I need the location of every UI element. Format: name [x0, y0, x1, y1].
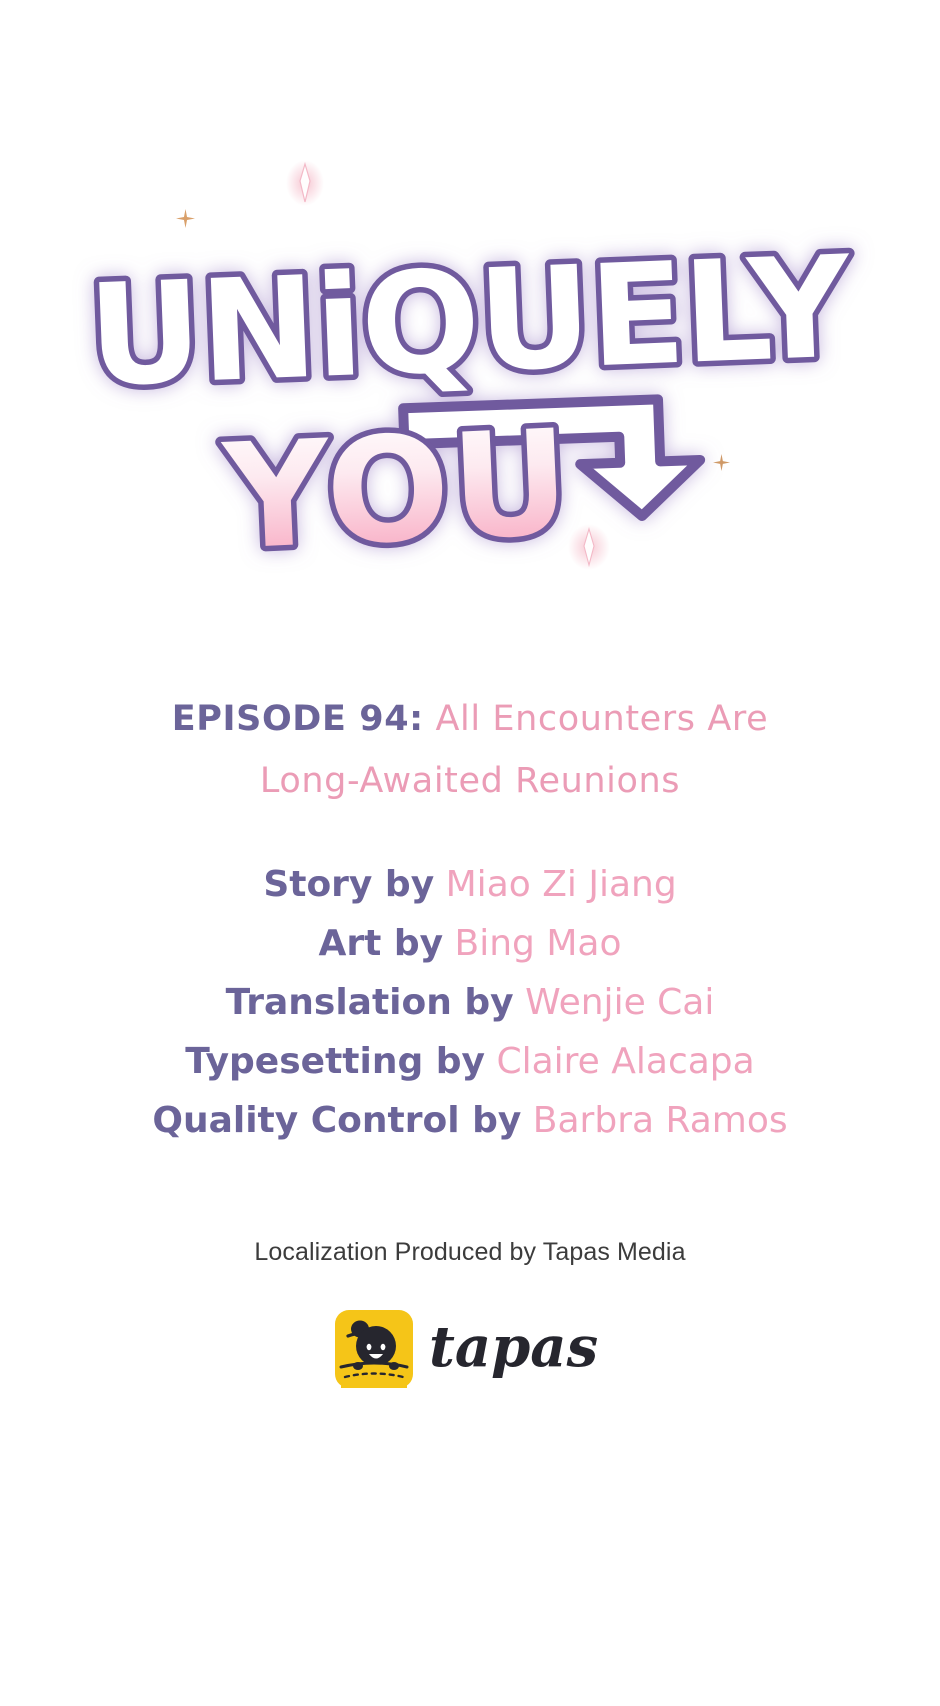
credit-name-story: Miao Zi Jiang	[446, 864, 677, 905]
credit-row-art: Art by Bing Mao	[0, 914, 940, 973]
credit-name-typesetting: Claire Alacapa	[496, 1041, 754, 1082]
credit-name-translation: Wenjie Cai	[525, 982, 714, 1023]
episode-title-part-1: All Encounters Are	[435, 699, 768, 739]
tapas-logo[interactable]: tapas	[0, 1310, 940, 1393]
episode-title: EPISODE 94: All Encounters Are Long-Awai…	[0, 688, 940, 812]
episode-title-line-1: EPISODE 94: All Encounters Are	[0, 688, 940, 750]
svg-text:tapas: tapas	[429, 1314, 598, 1380]
credits-list: Story by Miao Zi Jiang Art by Bing Mao T…	[0, 855, 940, 1150]
episode-title-line-2: Long-Awaited Reunions	[0, 750, 940, 812]
localization-note: Localization Produced by Tapas Media	[0, 1238, 940, 1267]
credit-row-story: Story by Miao Zi Jiang	[0, 855, 940, 914]
credit-row-quality-control: Quality Control by Barbra Ramos	[0, 1091, 940, 1150]
credit-name-art: Bing Mao	[455, 923, 622, 964]
tapas-wordmark: tapas	[427, 1314, 605, 1389]
series-logo: UNiQUELY YOU	[0, 210, 940, 610]
credit-role-translation: Translation by	[226, 982, 514, 1023]
credit-name-quality-control: Barbra Ramos	[533, 1100, 788, 1141]
credit-role-typesetting: Typesetting by	[185, 1041, 485, 1082]
sparkle-pink-top-icon	[286, 160, 324, 206]
credit-row-translation: Translation by Wenjie Cai	[0, 973, 940, 1032]
svg-text:YOU: YOU	[219, 399, 575, 583]
episode-label: EPISODE 94:	[172, 699, 424, 739]
credit-role-quality-control: Quality Control by	[152, 1100, 521, 1141]
credit-role-art: Art by	[318, 923, 443, 964]
credit-row-typesetting: Typesetting by Claire Alacapa	[0, 1032, 940, 1091]
svg-text:UNiQUELY: UNiQUELY	[85, 226, 854, 418]
credit-role-story: Story by	[263, 864, 434, 905]
episode-title-part-2: Long-Awaited Reunions	[260, 761, 680, 801]
tapas-mascot-icon	[335, 1310, 413, 1393]
